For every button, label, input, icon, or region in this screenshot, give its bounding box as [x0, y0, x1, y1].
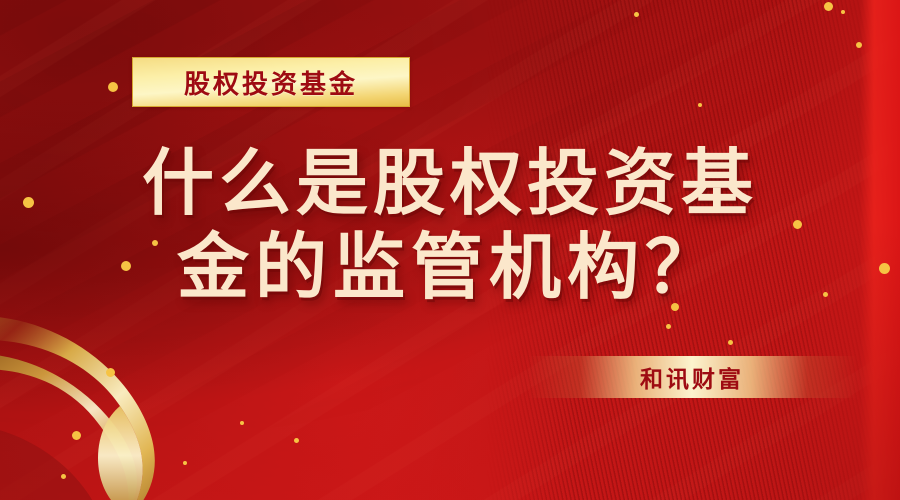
- gold-particle: [294, 438, 299, 443]
- headline-line-1: 什么是股权投资基: [0, 142, 900, 226]
- gold-particle: [108, 82, 118, 92]
- gold-particle: [240, 421, 244, 425]
- brand-badge-label: 和讯财富: [640, 360, 744, 394]
- gold-particle: [72, 431, 81, 440]
- gold-particle: [698, 103, 702, 107]
- brand-badge: 和讯财富: [527, 356, 857, 398]
- promo-banner: 股权投资基金 什么是股权投资基 金的监管机构？ 和讯财富: [0, 0, 900, 500]
- gold-particle: [666, 324, 671, 329]
- gold-particle: [61, 474, 66, 479]
- gold-particle: [841, 10, 845, 14]
- headline-line-2: 金的监管机构？: [0, 226, 900, 310]
- category-badge-label: 股权投资基金: [184, 64, 358, 101]
- gold-particle: [824, 2, 833, 11]
- gold-particle: [728, 340, 733, 345]
- gold-particle: [183, 461, 187, 465]
- gold-particle: [634, 12, 639, 17]
- gold-particle: [106, 368, 115, 377]
- headline: 什么是股权投资基 金的监管机构？: [0, 142, 900, 310]
- category-badge: 股权投资基金: [132, 57, 410, 107]
- gold-particle: [856, 42, 862, 48]
